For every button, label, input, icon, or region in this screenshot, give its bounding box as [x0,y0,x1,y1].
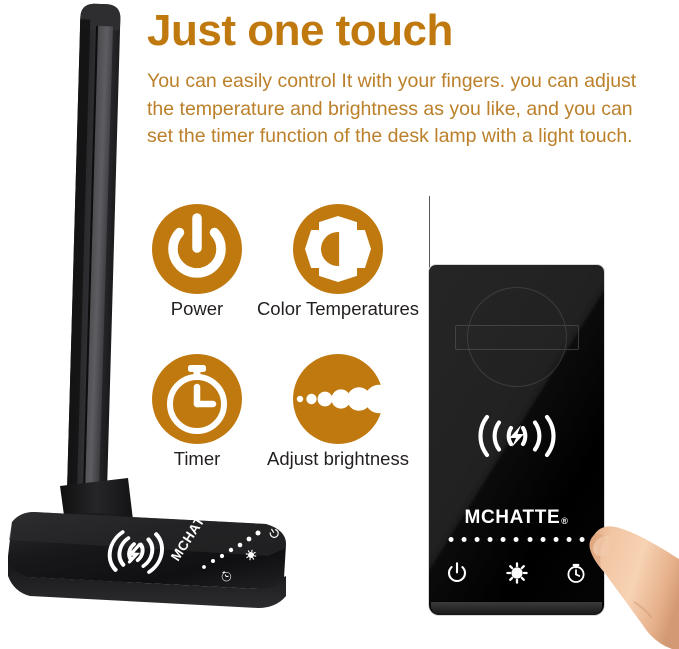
panel-bottom-edge [431,602,602,615]
page-headline: Just one touch [147,8,667,54]
control-panel-closeup: MCHATTE® [429,265,604,615]
brightness-dot [527,537,532,542]
charging-coil-band [455,325,579,350]
brightness-dot [474,537,479,542]
lamp-base-dot-row [202,531,260,569]
feature-timer-label: Timer [152,448,242,470]
color-temperature-icon [293,204,383,294]
lamp-base-brand: MCHATTE [168,499,218,564]
lamp-base-keys [220,527,280,583]
brightness-dot [554,537,559,542]
feature-adjust-brightness: Adjust brightness [248,354,428,470]
brightness-dot [580,537,585,542]
panel-brightness-dot-row [448,537,585,542]
brightness-dot [448,537,453,542]
brightness-dot [540,537,545,542]
brightness-touch-icon[interactable] [505,561,529,585]
brightness-dot [514,537,519,542]
feature-adjust-brightness-label: Adjust brightness [248,448,428,470]
panel-brand: MCHATTE® [465,507,569,529]
power-touch-icon[interactable] [445,561,469,585]
panel-touch-keys [445,561,588,585]
brightness-dot [461,537,466,542]
brightness-dots-icon [293,354,383,444]
control-panel-surface: MCHATTE® [429,265,604,615]
brightness-dot [567,537,572,542]
timer-icon [152,354,242,444]
feature-power-label: Power [152,298,242,320]
brightness-dot [488,537,493,542]
brightness-dot [501,537,506,542]
wireless-charging-icon [461,413,573,459]
feature-color-temperature: Color Temperatures [248,204,428,320]
timer-touch-icon[interactable] [564,561,588,585]
registered-mark: ® [561,516,568,526]
panel-brand-text: MCHATTE [465,507,561,528]
feature-timer: Timer [152,354,242,470]
feature-power: Power [152,204,242,320]
power-icon [152,204,242,294]
feature-color-temperature-label: Color Temperatures [248,298,428,320]
page-body-text: You can easily control It with your fing… [147,68,647,151]
product-feature-graphic: MCHATTE [0,0,679,649]
